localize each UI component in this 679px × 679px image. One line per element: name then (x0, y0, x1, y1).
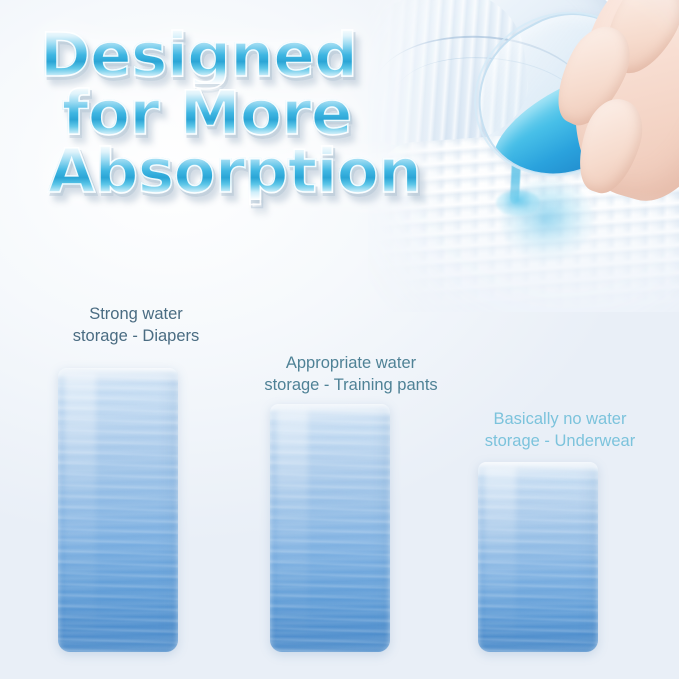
block-highlight (485, 466, 516, 648)
block-highlight (277, 409, 308, 647)
headline-line-2: for More (62, 86, 440, 142)
caption-training-pants: Appropriate water storage - Training pan… (245, 352, 457, 397)
water-block-training-pants (270, 404, 390, 652)
absorption-poster: Designed for More Absorption Strong wate… (0, 0, 679, 679)
caption-diapers: Strong water storage - Diapers (36, 303, 236, 348)
headline-line-3: Absorption (48, 144, 440, 200)
water-block-underwear (478, 462, 598, 652)
headline: Designed for More Absorption (40, 28, 440, 202)
caption-underwear: Basically no water storage - Underwear (456, 408, 664, 453)
block-highlight (65, 374, 96, 647)
headline-line-1: Designed (40, 28, 440, 84)
water-block-diapers (58, 368, 178, 652)
